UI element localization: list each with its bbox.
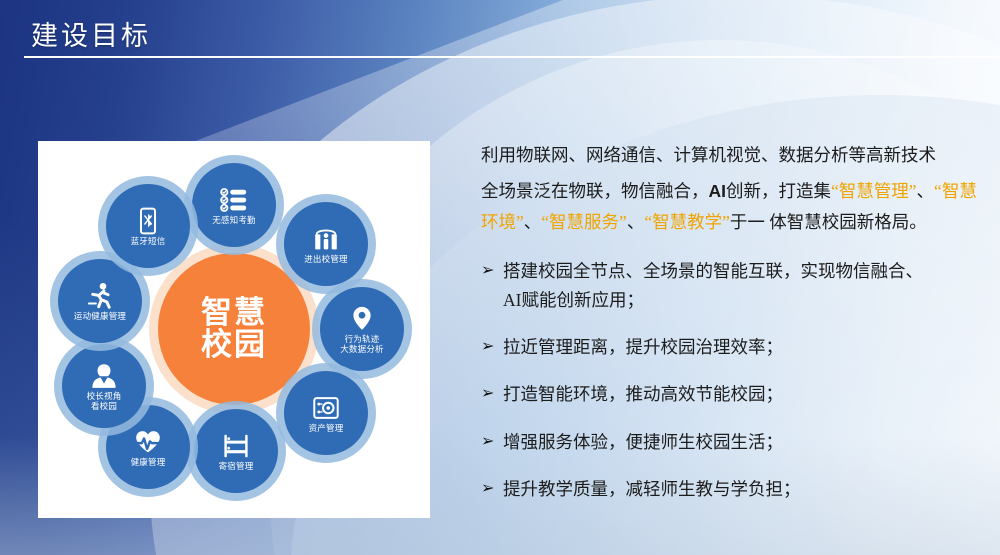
intro-seg-a: 全场景泛在物联，物信融合， (481, 181, 709, 201)
heart-pulse-icon (131, 427, 165, 458)
bullet-arrow-icon: ➢ (481, 475, 503, 501)
diagram-node-asset[interactable]: 资产管理 (284, 371, 368, 455)
gate-icon (309, 224, 343, 255)
diagram-node-attendance[interactable]: 无感知考勤 (192, 163, 276, 247)
bullet-arrow-icon: ➢ (481, 333, 503, 359)
intro-seg-f: 于一 体智慧校园新格局。 (730, 212, 927, 232)
diagram-node-dormitory[interactable]: 寄宿管理 (194, 409, 278, 493)
diagram-node-access[interactable]: 进出校管理 (284, 202, 368, 286)
heart-pulse-icon (131, 427, 165, 457)
intro-seg-b: 创新，打造集 (726, 181, 831, 201)
goal-bullet-item: ➢搭建校园全节点、全场景的智能互联，实现物信融合、 AI赋能创新应用； (481, 257, 986, 314)
diagram-node-label-principal: 校长视角 看校园 (87, 392, 122, 411)
principal-icon (87, 361, 121, 391)
intro-highlight-3: “智慧服务” (541, 212, 627, 232)
diagram-center-hub: 智慧 校园 (158, 253, 310, 405)
slide-root: 建设目标 智慧 校园 无感知考勤进出校管理行为轨迹 大数据分析资产管理寄宿管理健… (0, 0, 1000, 555)
diagram-node-label-access: 进出校管理 (304, 255, 348, 265)
content-column: 利用物联网、网络通信、计算机视觉、数据分析等高新技术 全场景泛在物联，物信融合，… (481, 140, 986, 522)
slide-header: 建设目标 (0, 0, 1000, 62)
phone-bluetooth-icon (131, 206, 165, 236)
gate-icon (309, 224, 343, 254)
bullet-arrow-icon: ➢ (481, 257, 503, 283)
goals-bullet-list: ➢搭建校园全节点、全场景的智能互联，实现物信融合、 AI赋能创新应用；➢拉近管理… (481, 257, 986, 503)
diagram-node-trajectory[interactable]: 行为轨迹 大数据分析 (320, 287, 404, 371)
running-icon (83, 281, 117, 311)
diagram-node-bluetooth[interactable]: 蓝牙短信 (106, 184, 190, 268)
bullet-arrow-icon: ➢ (481, 380, 503, 406)
diagram-node-label-health: 健康管理 (131, 458, 166, 468)
title-divider (24, 56, 1000, 58)
intro-highlight-4: “智慧教学” (644, 212, 730, 232)
smart-campus-diagram: 智慧 校园 无感知考勤进出校管理行为轨迹 大数据分析资产管理寄宿管理健康管理校长… (38, 141, 430, 518)
location-pin-icon (345, 304, 379, 335)
goal-bullet-item: ➢增强服务体验，便捷师生校园生活； (481, 428, 986, 456)
diagram-node-label-bluetooth: 蓝牙短信 (131, 237, 166, 247)
goal-bullet-text-1: 搭建校园全节点、全场景的智能互联，实现物信融合、 AI赋能创新应用； (503, 257, 923, 314)
goal-bullet-item: ➢打造智能环境，推动高效节能校园； (481, 380, 986, 408)
phone-bluetooth-icon (131, 206, 165, 237)
safe-box-icon (309, 393, 343, 423)
diagram-node-principal[interactable]: 校长视角 看校园 (62, 344, 146, 428)
intro-highlight-1: “智慧管理” (831, 181, 917, 201)
intro-seg-ai: AI (709, 181, 727, 201)
goal-bullet-text-3: 打造智能环境，推动高效节能校园； (503, 380, 783, 408)
diagram-node-label-attendance: 无感知考勤 (212, 216, 256, 226)
diagram-node-sport[interactable]: 运动健康管理 (58, 259, 142, 343)
location-pin-icon (345, 304, 379, 334)
bullet-arrow-icon: ➢ (481, 428, 503, 454)
safe-box-icon (309, 393, 343, 424)
intro-seg-e: 、 (627, 212, 645, 232)
goal-bullet-text-5: 提升教学质量，减轻师生教与学负担； (503, 475, 801, 503)
intro-line-1: 利用物联网、网络通信、计算机视觉、数据分析等高新技术 (481, 140, 986, 170)
goal-bullet-text-2: 拉近管理距离，提升校园治理效率； (503, 333, 783, 361)
diagram-node-label-trajectory: 行为轨迹 大数据分析 (340, 335, 384, 354)
checklist-icon (217, 185, 251, 215)
page-title: 建设目标 (31, 14, 151, 53)
diagram-node-label-sport: 运动健康管理 (74, 312, 126, 322)
diagram-node-label-asset: 资产管理 (309, 424, 344, 434)
goal-bullet-item: ➢提升教学质量，减轻师生教与学负担； (481, 475, 986, 503)
intro-line-2: 全场景泛在物联，物信融合，AI创新，打造集“智慧管理”、“智慧环境”、“智慧服务… (481, 176, 986, 237)
goal-bullet-item: ➢拉近管理距离，提升校园治理效率； (481, 333, 986, 361)
diagram-center-label: 智慧 校园 (201, 297, 267, 361)
bunk-bed-icon (219, 431, 253, 461)
diagram-card: 智慧 校园 无感知考勤进出校管理行为轨迹 大数据分析资产管理寄宿管理健康管理校长… (38, 141, 430, 518)
intro-seg-d: 、 (524, 212, 542, 232)
diagram-node-label-dormitory: 寄宿管理 (219, 462, 254, 472)
bunk-bed-icon (219, 431, 253, 462)
principal-icon (87, 361, 121, 392)
running-icon (83, 281, 117, 312)
goal-bullet-text-4: 增强服务体验，便捷师生校园生活； (503, 428, 783, 456)
intro-seg-c: 、 (917, 181, 935, 201)
checklist-icon (217, 185, 251, 216)
